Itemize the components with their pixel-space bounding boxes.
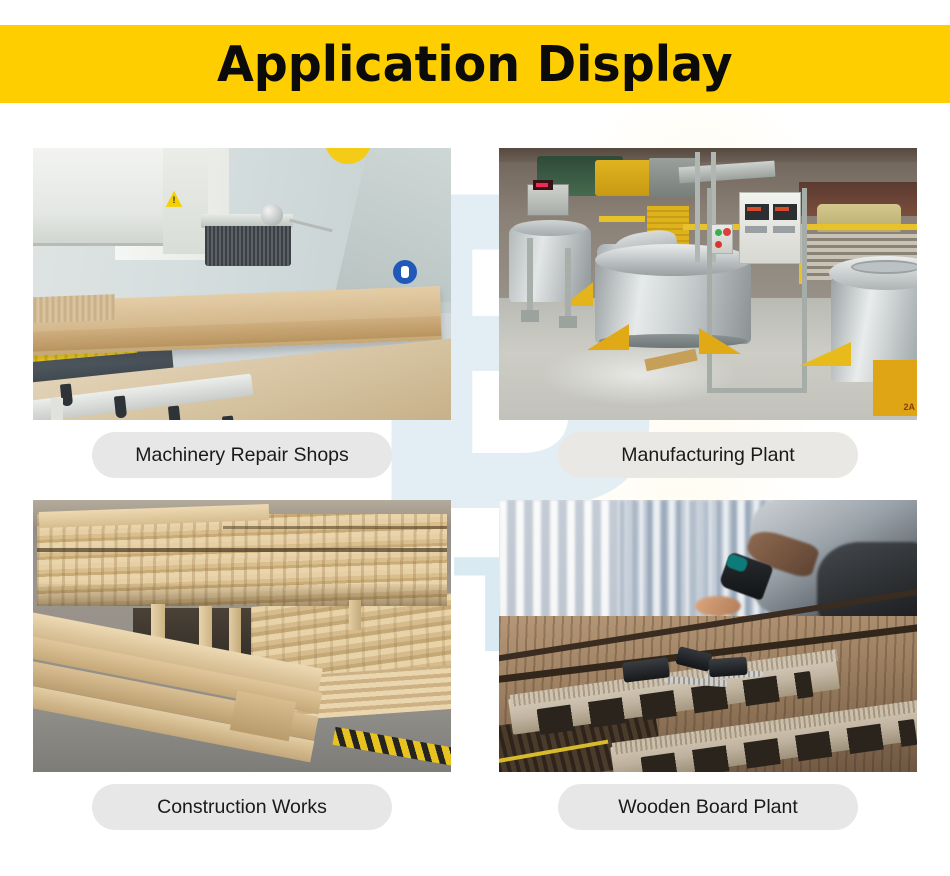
- tank-foot: [521, 310, 539, 322]
- tank-flange: [851, 260, 917, 274]
- caption-label: Construction Works: [157, 796, 327, 819]
- gallery-card-construction-works[interactable]: Construction Works: [33, 500, 451, 830]
- tank-leg: [565, 248, 571, 320]
- tank-leg: [527, 238, 533, 314]
- conveyor-leg: [51, 398, 63, 420]
- cabinet-display: [745, 204, 769, 220]
- safety-sign-icon: [393, 260, 417, 284]
- wood-board-chipcore: [33, 294, 115, 324]
- page-title: Application Display: [217, 36, 733, 93]
- caption-pill-construction-works[interactable]: Construction Works: [92, 784, 392, 830]
- tank-foot: [559, 316, 577, 328]
- caption-label: Wooden Board Plant: [618, 796, 798, 819]
- yellow-railing-right: [799, 224, 917, 230]
- machine-brush: [205, 226, 291, 266]
- gallery-card-machinery-repair-shops[interactable]: Machinery Repair Shops: [33, 148, 451, 478]
- caption-container: Wooden Board Plant: [499, 784, 917, 830]
- caption-pill-wooden-board-plant[interactable]: Wooden Board Plant: [558, 784, 858, 830]
- conveyor-clip: [114, 395, 127, 418]
- caption-container: Machinery Repair Shops: [33, 432, 451, 478]
- photo-construction-works[interactable]: [33, 500, 451, 772]
- wheel-chock-labeled-2a: [873, 360, 917, 416]
- machine-knob: [261, 204, 283, 226]
- gallery-card-manufacturing-plant[interactable]: Manufacturing Plant: [499, 148, 917, 478]
- caption-container: Manufacturing Plant: [499, 432, 917, 478]
- cabinet-label: [773, 226, 795, 233]
- caption-pill-manufacturing-plant[interactable]: Manufacturing Plant: [558, 432, 858, 478]
- header-banner: Application Display: [0, 25, 950, 103]
- reactor-tank-rear-left: [509, 226, 591, 302]
- worker-hand: [695, 596, 741, 616]
- caption-container: Construction Works: [33, 784, 451, 830]
- led-display: [533, 180, 553, 190]
- stack-separator-line: [37, 548, 447, 552]
- vertical-pipe: [695, 152, 700, 262]
- yellow-railing-left: [599, 216, 645, 222]
- photo-machinery-repair-shops[interactable]: [33, 148, 451, 420]
- cabinet-display: [773, 204, 797, 220]
- decking-clip: [708, 657, 747, 678]
- support-post: [349, 600, 361, 630]
- photo-manufacturing-plant[interactable]: [499, 148, 917, 420]
- conveyor-clip: [168, 405, 181, 420]
- application-gallery: Machinery Repair Shops: [33, 148, 917, 830]
- photo-wooden-board-plant[interactable]: [499, 500, 917, 772]
- gallery-card-wooden-board-plant[interactable]: Wooden Board Plant: [499, 500, 917, 830]
- caption-pill-machinery-repair-shops[interactable]: Machinery Repair Shops: [92, 432, 392, 478]
- cabinet-label: [745, 226, 767, 233]
- stack-separator-line: [223, 526, 447, 529]
- emergency-stop-button: [723, 228, 731, 236]
- caption-label: Manufacturing Plant: [621, 444, 794, 467]
- caption-label: Machinery Repair Shops: [135, 444, 349, 467]
- lumber-stack-top-shadow: [37, 584, 447, 606]
